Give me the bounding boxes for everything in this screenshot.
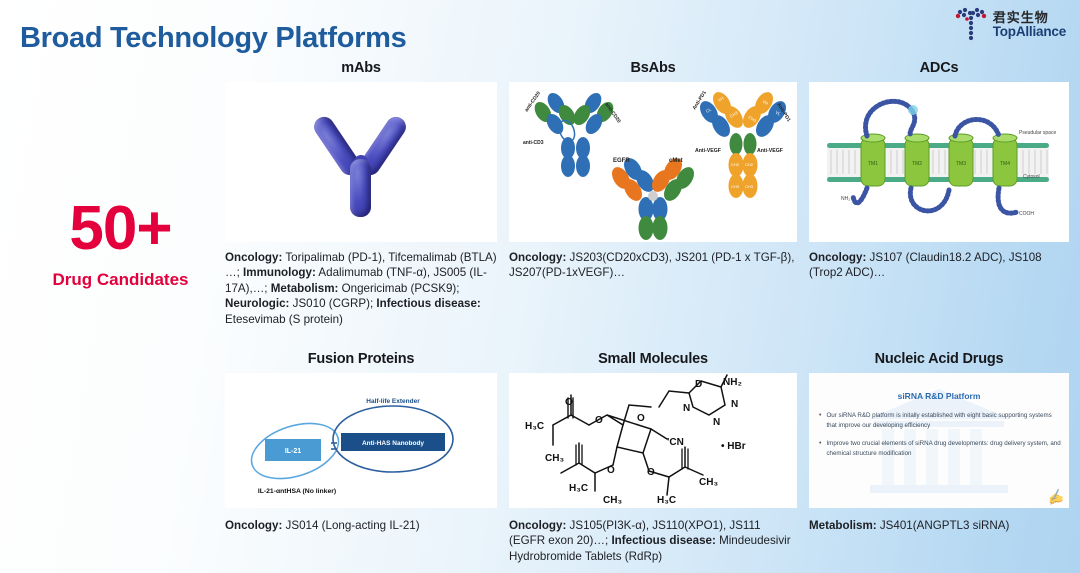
sirna-platform-slide: siRNA R&D Platform • Our siRNA R&D platf… (809, 373, 1069, 508)
platform-figure-bsabs: anti-CD20 anti-CD20 anti-CD3 (509, 82, 797, 242)
page-title: Broad Technology Platforms (20, 22, 406, 55)
platform-heading-nucleic-acid-drugs: Nucleic Acid Drugs (809, 351, 1069, 367)
svg-text:CH₃: CH₃ (545, 453, 564, 464)
logo-english-name: TopAlliance (993, 25, 1066, 39)
svg-text:COOH: COOH (1019, 211, 1034, 217)
svg-text:O: O (595, 415, 603, 426)
stat-number: 50+ (18, 198, 223, 260)
platform-figure-small-molecules: H₃C CH₃ O O O 'CN O H₃C CH₃ O H₃C CH₃ (509, 373, 797, 508)
svg-text:N: N (713, 417, 720, 428)
svg-text:O: O (565, 397, 573, 408)
svg-text:O: O (647, 467, 655, 478)
svg-text:'CN: 'CN (667, 437, 684, 448)
platform-figure-nucleic-acid-drugs: siRNA R&D Platform • Our siRNA R&D platf… (809, 373, 1069, 508)
fusion-protein-diagram-icon: IL-21 Anti-HAS Nanobody Half-life Extend… (225, 373, 497, 508)
platform-caption-nucleic-acid-drugs: Metabolism: JS401(ANGPTL3 siRNA) (809, 518, 1069, 533)
chemical-structure-icon: H₃C CH₃ O O O 'CN O H₃C CH₃ O H₃C CH₃ (509, 373, 797, 508)
platform-card-adcs: ADCs (809, 60, 1069, 327)
svg-text:Pseudular space: Pseudular space (1019, 130, 1056, 136)
platform-figure-fusion-proteins: IL-21 Anti-HAS Nanobody Half-life Extend… (225, 373, 497, 508)
sirna-bullet-list: • Our siRNA R&D platform is initally est… (819, 411, 1061, 467)
bullet-icon: • (819, 411, 821, 430)
sirna-platform-title: siRNA R&D Platform (809, 391, 1069, 401)
svg-text:CH2: CH2 (731, 162, 740, 167)
platform-heading-fusion-proteins: Fusion Proteins (225, 351, 497, 367)
svg-text:TM4: TM4 (1000, 161, 1010, 167)
svg-text:N: N (683, 403, 690, 414)
antibody-3d-structure-icon (321, 111, 401, 219)
svg-text:TM2: TM2 (912, 161, 922, 167)
list-item: • Our siRNA R&D platform is initally est… (819, 411, 1061, 430)
svg-text:EGFR: EGFR (613, 158, 630, 164)
drug-candidates-stat: 50+ Drug Candidates (18, 198, 223, 290)
platform-heading-small-molecules: Small Molecules (509, 351, 797, 367)
sirna-bullet-text: Our siRNA R&D platform is initally estab… (826, 411, 1061, 430)
company-logo: 君实生物 TopAlliance (954, 6, 1066, 44)
svg-text:TM3: TM3 (956, 161, 966, 167)
svg-text:Half-life Extender: Half-life Extender (366, 398, 420, 405)
platform-heading-adcs: ADCs (809, 60, 1069, 76)
platform-card-small-molecules: Small Molecules (509, 351, 797, 564)
platform-caption-bsabs: Oncology: JS203(CD20xCD3), JS201 (PD-1 x… (509, 250, 797, 281)
platform-figure-mabs (225, 82, 497, 242)
slide-root: Broad Technology Platforms (0, 0, 1080, 573)
platform-caption-small-molecules: Oncology: JS105(PI3K-α), JS110(XPO1), JS… (509, 518, 797, 564)
svg-text:IL-21: IL-21 (285, 448, 301, 455)
svg-text:O: O (607, 465, 615, 476)
svg-text:H₃C: H₃C (569, 483, 588, 494)
platform-caption-adcs: Oncology: JS107 (Claudin18.2 ADC), JS108… (809, 250, 1069, 281)
svg-text:NH₂: NH₂ (841, 196, 850, 202)
platform-card-mabs: mAbs Oncology: Toripalimab (PD-1), Tifce… (225, 60, 497, 327)
logo-chinese-name: 君实生物 (993, 11, 1066, 25)
svg-text:IL-21-αntHSA (No linker): IL-21-αntHSA (No linker) (258, 488, 336, 495)
membrane-protein-diagram-icon: TM1 TM2 TM3 TM4 (809, 82, 1069, 242)
sirna-bullet-text: Improve two crucial elements of siRNA dr… (826, 439, 1061, 458)
platform-heading-bsabs: BsAbs (509, 60, 797, 76)
signature-mark: ✍ (1045, 488, 1065, 508)
platform-caption-fusion-proteins: Oncology: JS014 (Long-acting IL-21) (225, 518, 497, 533)
bispecific-antibody-diagram-icon: anti-CD20 anti-CD20 anti-CD3 (509, 82, 797, 242)
svg-text:CH3: CH3 (731, 184, 740, 189)
svg-text:CH2: CH2 (745, 162, 754, 167)
platform-grid: mAbs Oncology: Toripalimab (PD-1), Tifce… (225, 60, 1070, 564)
platform-heading-mabs: mAbs (225, 60, 497, 76)
platform-card-nucleic-acid-drugs: Nucleic Acid Drugs (809, 351, 1069, 564)
svg-text:H₃C: H₃C (657, 495, 676, 506)
stat-label: Drug Candidates (18, 270, 223, 290)
svg-text:CH₃: CH₃ (699, 477, 718, 488)
svg-text:• HBr: • HBr (721, 441, 746, 452)
platform-card-bsabs: BsAbs (509, 60, 797, 327)
svg-text:Anti-VEGF: Anti-VEGF (695, 148, 721, 154)
antibody-dot-logo-icon (954, 6, 988, 44)
svg-text:CH3: CH3 (745, 184, 754, 189)
platform-card-fusion-proteins: Fusion Proteins IL-21 Anti-HAS Nanobody … (225, 351, 497, 564)
platform-row-bottom: Fusion Proteins IL-21 Anti-HAS Nanobody … (225, 351, 1070, 564)
platform-caption-mabs: Oncology: Toripalimab (PD-1), Tifcemalim… (225, 250, 497, 327)
svg-text:NH₂: NH₂ (723, 377, 742, 388)
svg-text:Cytosol: Cytosol (1023, 174, 1040, 180)
svg-text:TM1: TM1 (868, 161, 878, 167)
svg-text:N: N (731, 399, 738, 410)
svg-text:anti-CD3: anti-CD3 (523, 140, 544, 146)
svg-text:H₃C: H₃C (525, 421, 544, 432)
list-item: • Improve two crucial elements of siRNA … (819, 439, 1061, 458)
platform-figure-adcs: TM1 TM2 TM3 TM4 (809, 82, 1069, 242)
svg-text:Anti-HAS Nanobody: Anti-HAS Nanobody (362, 440, 424, 447)
svg-text:O: O (637, 413, 645, 424)
svg-text:cMet: cMet (669, 158, 683, 164)
platform-row-top: mAbs Oncology: Toripalimab (PD-1), Tifce… (225, 60, 1070, 327)
svg-text:Anti-VEGF: Anti-VEGF (757, 148, 783, 154)
svg-text:CH₃: CH₃ (603, 495, 622, 506)
bullet-icon: • (819, 439, 821, 458)
svg-text:D: D (695, 379, 702, 390)
